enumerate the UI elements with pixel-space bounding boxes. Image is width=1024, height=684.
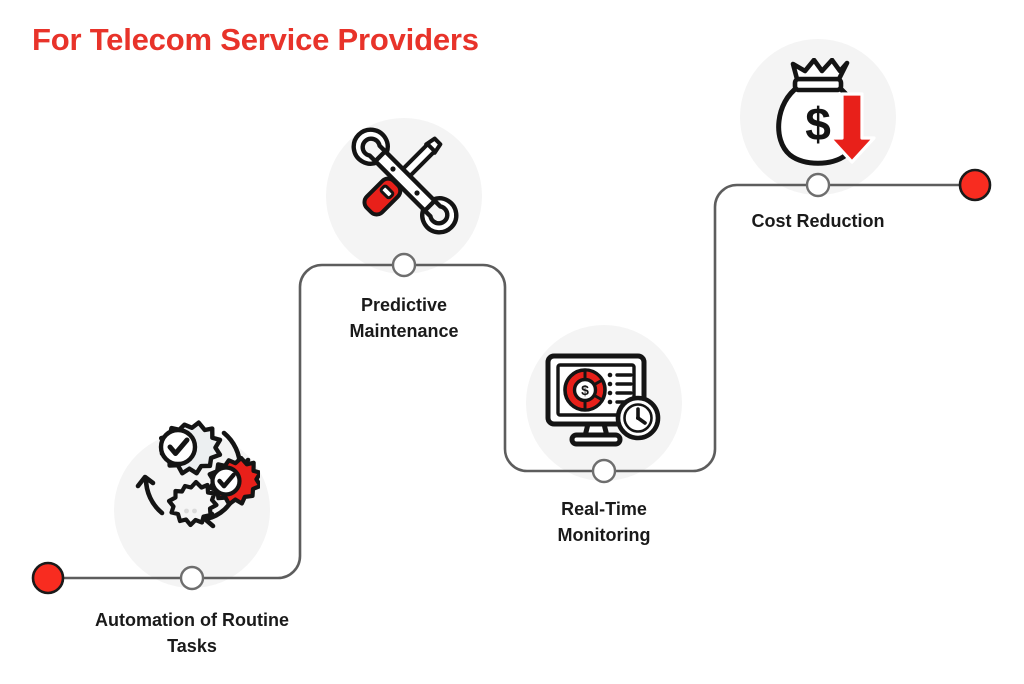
step-label-automation: Automation of Routine Tasks (42, 607, 342, 659)
node-marker-automation[interactable] (181, 567, 203, 589)
step-label-predictive: Predictive Maintenance (304, 292, 504, 344)
svg-text:$: $ (805, 98, 831, 150)
end-marker-dot (960, 170, 990, 200)
step-label-monitoring: Real-Time Monitoring (504, 496, 704, 548)
node-marker-predictive[interactable] (393, 254, 415, 276)
node-marker-monitoring[interactable] (593, 460, 615, 482)
wrench-screwdriver-icon (346, 126, 464, 236)
money-bag-down-arrow-icon: $ (770, 58, 880, 170)
gears-check-icon (132, 415, 260, 537)
node-marker-cost[interactable] (807, 174, 829, 196)
start-marker-dot (33, 563, 63, 593)
svg-text:$: $ (581, 382, 589, 398)
infographic-canvas: For Telecom Service Providers (0, 0, 1024, 684)
step-label-cost: Cost Reduction (718, 208, 918, 234)
monitor-analytics-clock-icon: $ (540, 352, 666, 450)
